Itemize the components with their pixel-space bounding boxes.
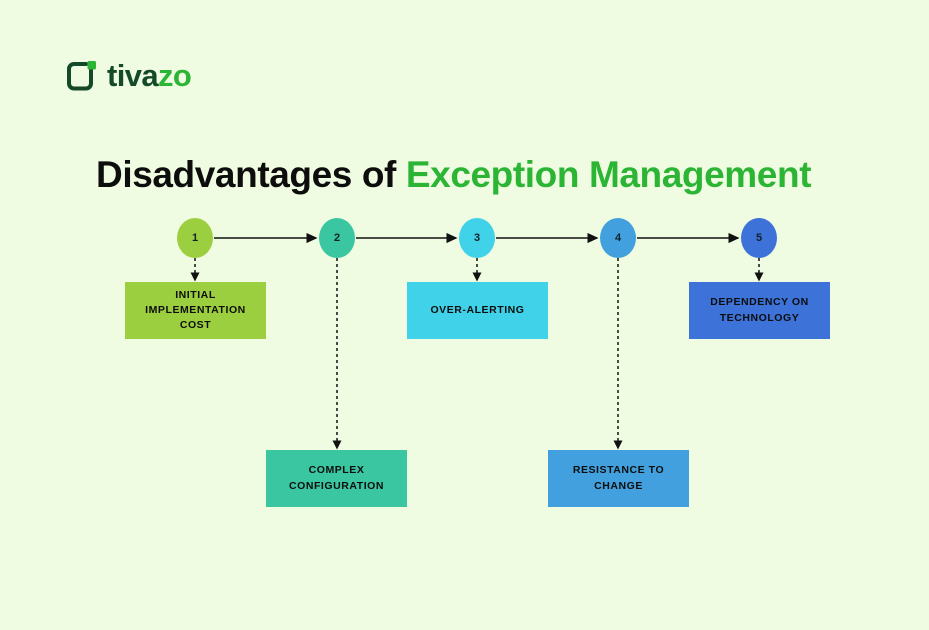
timeline-node-2[interactable]: 2	[319, 218, 355, 258]
stage-box-4[interactable]: RESISTANCE TO CHANGE	[548, 450, 689, 507]
timeline-node-5-number: 5	[756, 232, 762, 244]
stage-box-1[interactable]: INITIAL IMPLEMENTATION COST	[125, 282, 266, 339]
stage-box-5-label: DEPENDENCY ON TECHNOLOGY	[697, 295, 822, 325]
timeline-node-1[interactable]: 1	[177, 218, 213, 258]
timeline-node-1-number: 1	[192, 232, 198, 244]
timeline-node-4[interactable]: 4	[600, 218, 636, 258]
timeline-node-2-number: 2	[334, 232, 340, 244]
stage-box-1-label: INITIAL IMPLEMENTATION COST	[133, 288, 258, 334]
timeline-node-3-number: 3	[474, 232, 480, 244]
stage-box-2-label: COMPLEX CONFIGURATION	[274, 463, 399, 493]
process-timeline-diagram: 1 2 3 4 5 INITIAL IMPLEMENTATION COST CO…	[0, 0, 929, 630]
stage-box-2[interactable]: COMPLEX CONFIGURATION	[266, 450, 407, 507]
timeline-node-4-number: 4	[615, 232, 621, 244]
stage-box-3[interactable]: OVER-ALERTING	[407, 282, 548, 339]
stage-box-3-label: OVER-ALERTING	[430, 303, 524, 318]
stage-box-4-label: RESISTANCE TO CHANGE	[556, 463, 681, 493]
timeline-node-5[interactable]: 5	[741, 218, 777, 258]
stage-box-5[interactable]: DEPENDENCY ON TECHNOLOGY	[689, 282, 830, 339]
timeline-node-3[interactable]: 3	[459, 218, 495, 258]
